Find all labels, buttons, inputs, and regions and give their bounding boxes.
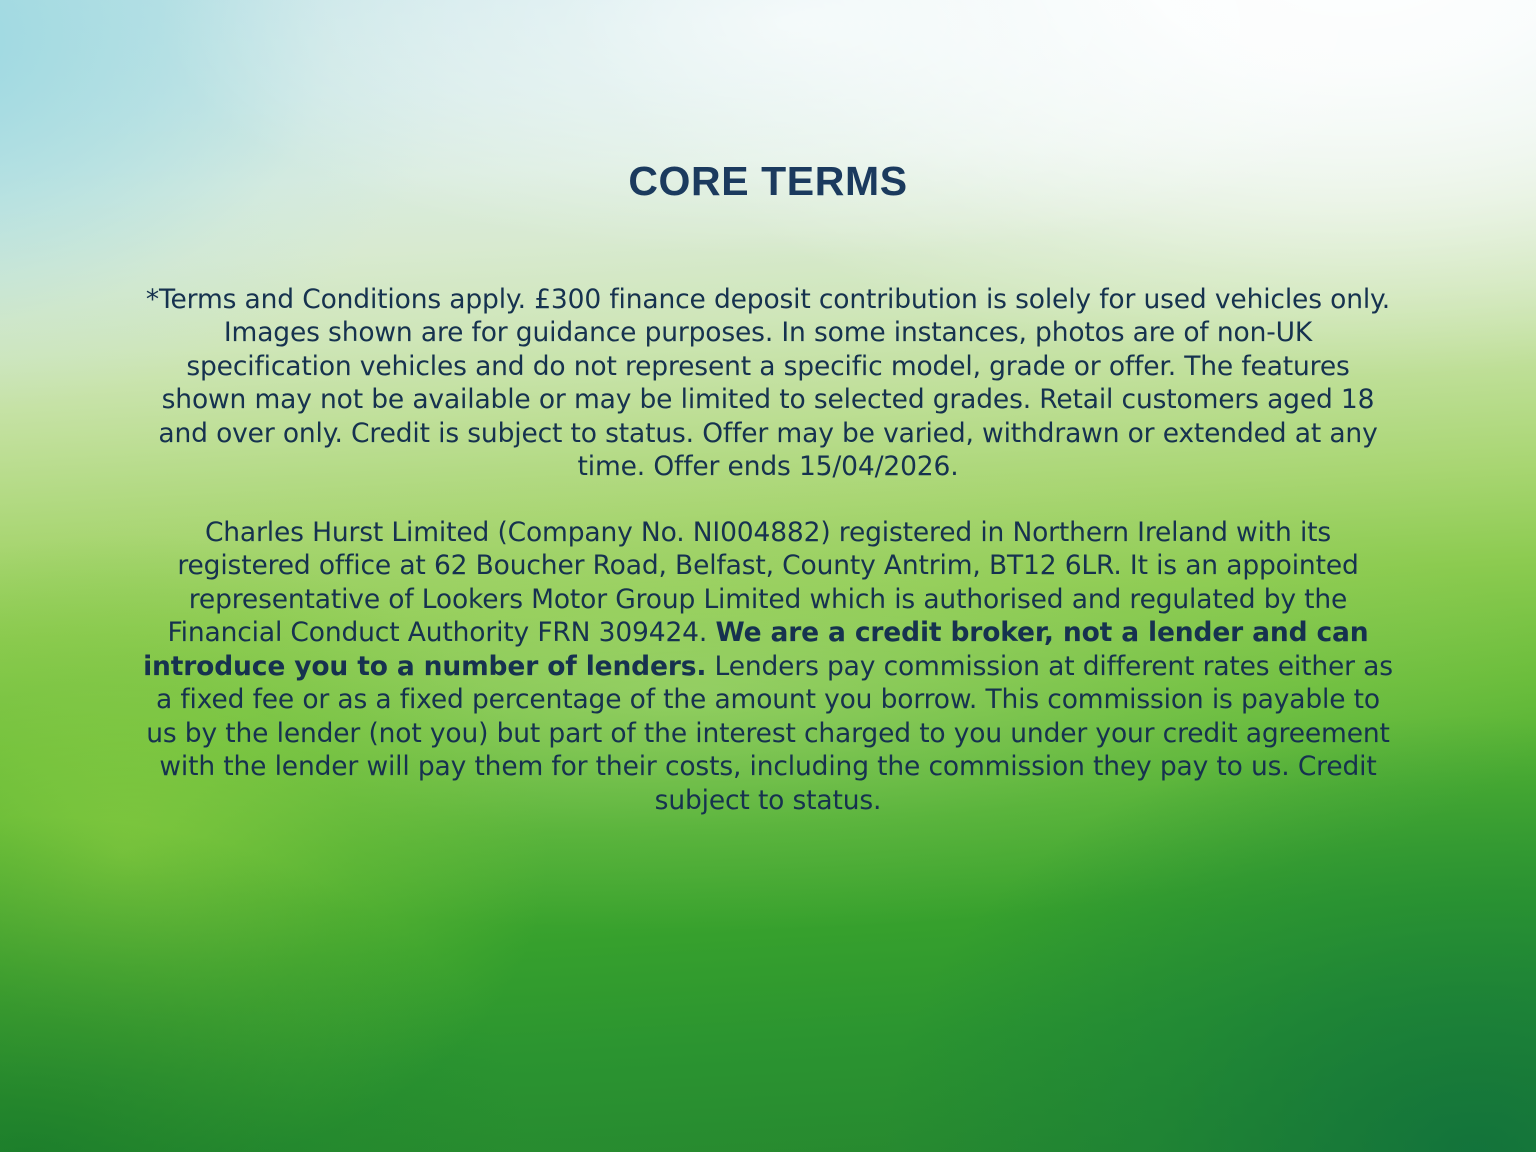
terms-disclaimer-paragraph: *Terms and Conditions apply. £300 financ… <box>143 283 1393 484</box>
page-title: CORE TERMS <box>0 158 1536 205</box>
company-disclaimer-paragraph: Charles Hurst Limited (Company No. NI004… <box>143 516 1393 818</box>
terms-slide: CORE TERMS *Terms and Conditions apply. … <box>0 0 1536 1152</box>
slide-content: CORE TERMS *Terms and Conditions apply. … <box>0 0 1536 1152</box>
